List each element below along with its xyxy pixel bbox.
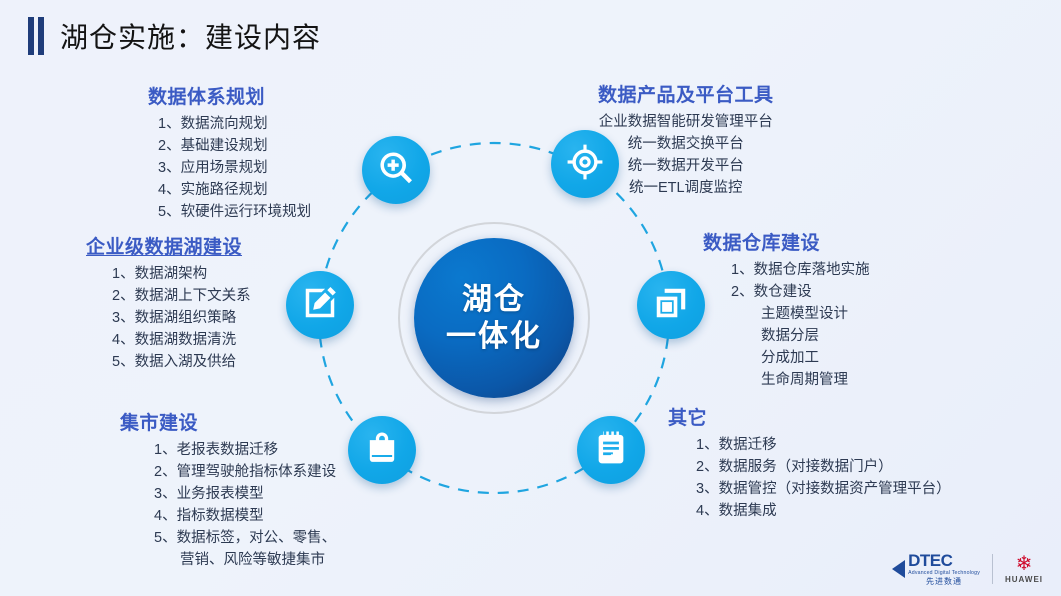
center-label-line1: 湖仓 <box>462 281 526 319</box>
footer-logos: DTEC Advanced Digital Technology 先进数通 ❄ … <box>892 552 1043 586</box>
list-item: 5、软硬件运行环境规划 <box>158 201 311 223</box>
logo-divider <box>992 554 993 584</box>
list-item: 2、数仓建设 <box>731 281 870 303</box>
block-list: 1、数据迁移 2、数据服务（对接数据门户） 3、数据管控（对接数据资产管理平台）… <box>696 434 951 522</box>
list-item: 1、老报表数据迁移 <box>154 439 336 461</box>
huawei-name: HUAWEI <box>1005 575 1043 584</box>
node-data-warehouse[interactable] <box>637 271 705 339</box>
dtec-name: DTEC <box>908 552 980 569</box>
center-label-line2: 一体化 <box>446 318 542 356</box>
block-data-product-platform: 数据产品及平台工具 企业数据智能研发管理平台 统一数据交换平台 统一数据开发平台… <box>598 80 774 199</box>
block-heading: 企业级数据湖建设 <box>86 232 251 259</box>
list-item: 4、实施路径规划 <box>158 179 311 201</box>
dtec-name-cn: 先进数通 <box>908 578 980 586</box>
block-other: 其它 1、数据迁移 2、数据服务（对接数据门户） 3、数据管控（对接数据资产管理… <box>668 403 951 522</box>
list-item: 2、基础建设规划 <box>158 135 311 157</box>
block-data-mart: 集市建设 1、老报表数据迁移 2、管理驾驶舱指标体系建设 3、业务报表模型 4、… <box>120 408 336 571</box>
node-enterprise-data-lake[interactable] <box>286 271 354 339</box>
list-item: 统一ETL调度监控 <box>598 177 774 199</box>
dtec-arrow-icon <box>892 560 905 578</box>
block-heading: 其它 <box>668 403 951 430</box>
list-item: 2、管理驾驶舱指标体系建设 <box>154 461 336 483</box>
block-heading: 数据仓库建设 <box>703 228 870 255</box>
huawei-flower-icon: ❄ <box>1016 554 1033 574</box>
list-item: 3、数据湖组织策略 <box>112 307 251 329</box>
pencil-square-icon <box>301 284 339 327</box>
list-item: 企业数据智能研发管理平台 <box>598 111 774 133</box>
block-enterprise-data-lake: 企业级数据湖建设 1、数据湖架构 2、数据湖上下文关系 3、数据湖组织策略 4、… <box>80 232 251 373</box>
block-data-system-planning: 数据体系规划 1、数据流向规划 2、基础建设规划 3、应用场景规划 4、实施路径… <box>110 82 311 223</box>
huawei-logo: ❄ HUAWEI <box>1005 554 1043 584</box>
list-item: 1、数据湖架构 <box>112 263 251 285</box>
block-heading: 数据体系规划 <box>148 82 311 109</box>
list-item: 2、数据服务（对接数据门户） <box>696 456 951 478</box>
list-item: 1、数据仓库落地实施 <box>731 259 870 281</box>
copy-layers-icon <box>652 284 690 327</box>
magnifier-plus-icon <box>377 149 415 192</box>
list-item: 5、数据标签，对公、零售、 <box>154 527 336 549</box>
list-item: 主题模型设计 <box>731 303 870 325</box>
node-data-system-planning[interactable] <box>362 136 430 204</box>
list-item: 统一数据开发平台 <box>598 155 774 177</box>
list-item: 4、数据湖数据清洗 <box>112 329 251 351</box>
node-data-mart[interactable] <box>348 416 416 484</box>
block-list: 1、数据仓库落地实施 2、数仓建设 主题模型设计 数据分层 分成加工 生命周期管… <box>731 259 870 391</box>
dtec-wordmark: DTEC Advanced Digital Technology 先进数通 <box>908 552 980 586</box>
center-circle: 湖仓 一体化 <box>414 238 574 398</box>
list-item: 4、指标数据模型 <box>154 505 336 527</box>
list-item: 2、数据湖上下文关系 <box>112 285 251 307</box>
list-item: 数据分层 <box>731 325 870 347</box>
block-list: 1、老报表数据迁移 2、管理驾驶舱指标体系建设 3、业务报表模型 4、指标数据模… <box>154 439 336 571</box>
block-heading: 集市建设 <box>120 408 336 435</box>
list-item: 分成加工 <box>731 347 870 369</box>
list-item: 营销、风险等敏捷集市 <box>154 549 336 571</box>
list-item: 4、数据集成 <box>696 500 951 522</box>
list-item: 生命周期管理 <box>731 369 870 391</box>
block-list: 1、数据湖架构 2、数据湖上下文关系 3、数据湖组织策略 4、数据湖数据清洗 5… <box>112 263 251 373</box>
list-item: 统一数据交换平台 <box>598 133 774 155</box>
block-list: 1、数据流向规划 2、基础建设规划 3、应用场景规划 4、实施路径规划 5、软硬… <box>158 113 311 223</box>
list-item: 5、数据入湖及供给 <box>112 351 251 373</box>
block-list: 企业数据智能研发管理平台 统一数据交换平台 统一数据开发平台 统一ETL调度监控 <box>598 111 774 199</box>
dtec-tagline: Advanced Digital Technology <box>908 571 980 576</box>
list-item: 3、业务报表模型 <box>154 483 336 505</box>
node-other[interactable] <box>577 416 645 484</box>
list-item: 3、应用场景规划 <box>158 157 311 179</box>
list-item: 1、数据流向规划 <box>158 113 311 135</box>
shopping-bag-icon <box>363 429 401 472</box>
block-data-warehouse: 数据仓库建设 1、数据仓库落地实施 2、数仓建设 主题模型设计 数据分层 分成加… <box>703 228 870 391</box>
list-item: 1、数据迁移 <box>696 434 951 456</box>
dtec-logo: DTEC Advanced Digital Technology 先进数通 <box>892 552 980 586</box>
block-heading: 数据产品及平台工具 <box>598 80 774 107</box>
notepad-check-icon <box>592 429 630 472</box>
list-item: 3、数据管控（对接数据资产管理平台） <box>696 478 951 500</box>
